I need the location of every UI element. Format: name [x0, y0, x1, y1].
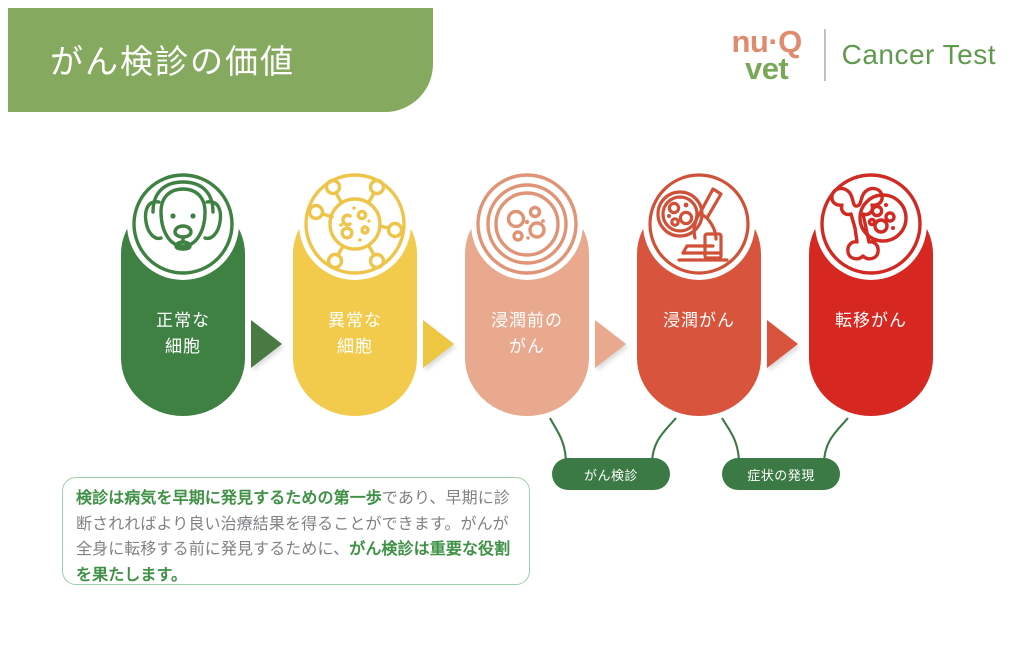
slide-canvas: がん検診の価値 nu·Q vet Cancer Test — [0, 0, 1024, 651]
stage-icon-disc — [471, 168, 583, 280]
brand-logo: nu·Q vet Cancer Test — [724, 22, 996, 88]
logo-product-text: Cancer Test — [842, 39, 996, 71]
logo-vet-text: vet — [745, 54, 788, 83]
page-title: がん検診の価値 — [50, 44, 295, 80]
stage-arrow-3 — [595, 320, 628, 368]
abnormal-cell-icon — [303, 172, 407, 276]
title-banner: がん検診の価値 — [8, 8, 433, 112]
stage-invasive-cancer: 浸潤がん — [637, 168, 761, 416]
logo-divider — [824, 29, 826, 81]
stage-label: 浸潤がん — [637, 308, 761, 334]
stage-metastatic-cancer: 転移がん — [809, 168, 933, 416]
stage-icon-disc — [815, 168, 927, 280]
stage-icon-disc — [643, 168, 755, 280]
cancer-progression-row: 正常な 細胞 — [0, 168, 1024, 418]
petri-dish-cells-icon — [475, 172, 579, 276]
connector-pill-label: がん検診 — [584, 465, 638, 484]
note-line1-gray: であり、早期 — [382, 490, 478, 507]
summary-note-text: 検診は病気を早期に発見するための第一歩であり、早期に診断されればより良い治療結果… — [76, 486, 517, 588]
bone-metastasis-icon — [819, 172, 923, 276]
stage-icon-disc — [127, 168, 239, 280]
note-line1-green: 検診は病気を早期に発見するための第一歩 — [76, 490, 382, 507]
connector-curve-pre-invasive — [550, 418, 566, 464]
stage-abnormal-cell: 異常な 細胞 — [293, 168, 417, 416]
stage-arrow-4 — [767, 320, 800, 368]
stage-normal-cell: 正常な 細胞 — [121, 168, 245, 416]
connector-pill-symptoms: 症状の発現 — [722, 458, 840, 490]
nuq-vet-logomark: nu·Q vet — [724, 23, 810, 87]
stage-pre-invasive-cancer: 浸潤前の がん — [465, 168, 589, 416]
stage-label: 転移がん — [809, 308, 933, 334]
microscope-icon — [647, 172, 751, 276]
note-line3-green: がん検診は — [349, 541, 430, 558]
connector-pill-screening: がん検診 — [552, 458, 670, 490]
connector-pill-label: 症状の発現 — [747, 465, 815, 484]
summary-note-box: 検診は病気を早期に発見するための第一歩であり、早期に診断されればより良い治療結果… — [62, 477, 530, 585]
dog-face-icon — [131, 172, 235, 276]
connector-curve-metastatic — [824, 418, 848, 464]
stage-arrow-1 — [251, 320, 284, 368]
stage-label: 浸潤前の がん — [465, 308, 589, 360]
stage-arrow-2 — [423, 320, 456, 368]
stage-label: 異常な 細胞 — [293, 308, 417, 360]
stage-label: 正常な 細胞 — [121, 308, 245, 360]
stage-icon-disc — [299, 168, 411, 280]
